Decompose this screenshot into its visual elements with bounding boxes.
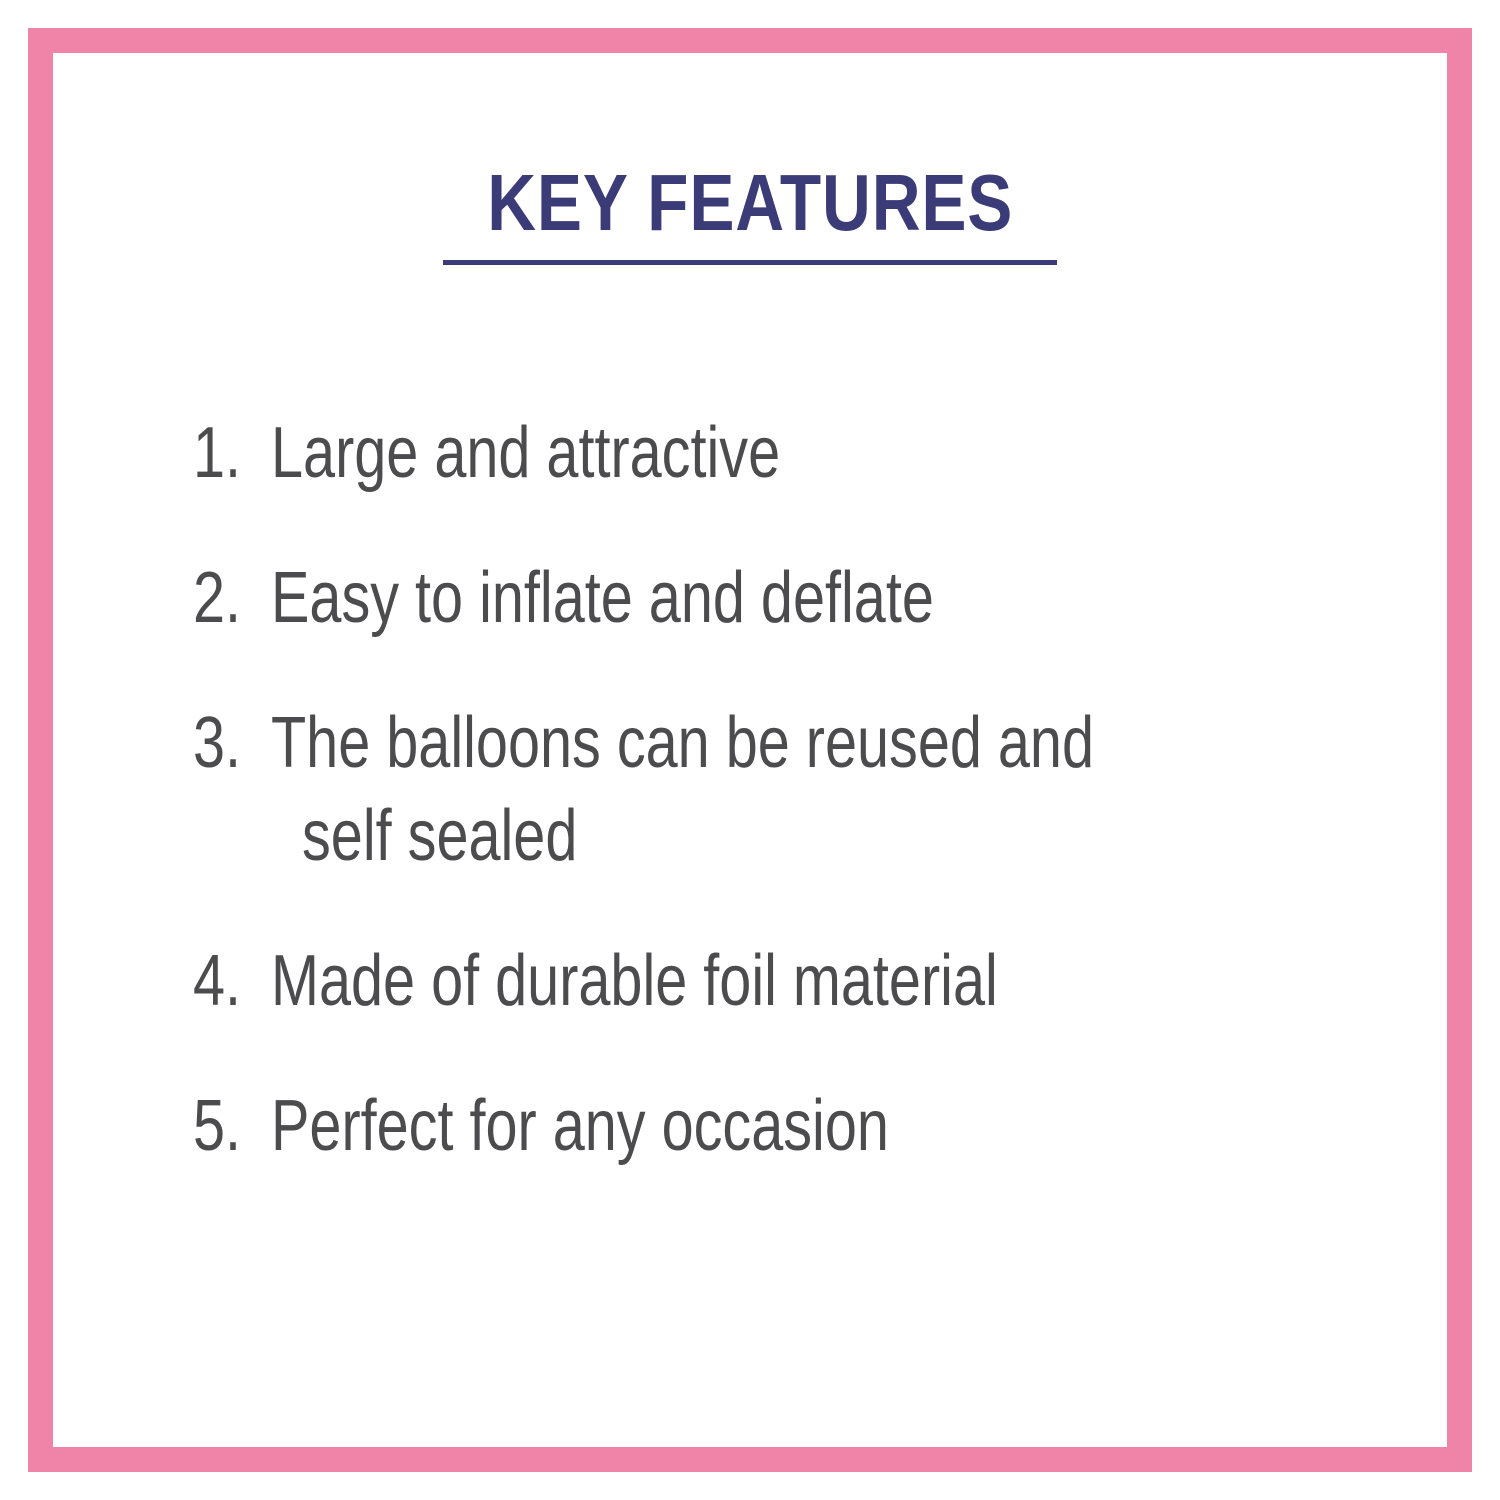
list-item-number: 5. <box>193 1078 255 1175</box>
list-item-number: 2. <box>193 550 255 647</box>
list-item-label-continued: self sealed <box>302 788 577 885</box>
list-item: 3. The balloons can be reused and self s… <box>193 695 1373 885</box>
list-item-label: Made of durable foil material <box>271 933 998 1030</box>
list-item-label: The balloons can be reused and <box>271 695 1094 792</box>
page-canvas: KEY FEATURES 1. Large and attractive 2. … <box>0 0 1500 1500</box>
page-title-wrapper: KEY FEATURES <box>439 160 1061 246</box>
list-item-label: Easy to inflate and deflate <box>271 550 934 647</box>
page-title-block: KEY FEATURES <box>0 160 1500 246</box>
list-item-wrapped-line: self sealed <box>193 788 1373 885</box>
list-item-number: 4. <box>193 933 255 1030</box>
list-item: 1. Large and attractive <box>193 405 1373 502</box>
list-item-label: Perfect for any occasion <box>271 1078 889 1175</box>
page-title-underline <box>443 260 1057 265</box>
list-item: 2. Easy to inflate and deflate <box>193 550 1373 647</box>
list-item-number: 3. <box>193 695 255 792</box>
list-item-number: 1. <box>193 405 255 502</box>
list-item: 4. Made of durable foil material <box>193 933 1373 1030</box>
list-item: 5. Perfect for any occasion <box>193 1078 1373 1175</box>
list-item-label: Large and attractive <box>271 405 780 502</box>
page-title: KEY FEATURES <box>487 160 1013 246</box>
list-item-first-line: 3. The balloons can be reused and <box>193 695 1373 792</box>
feature-list: 1. Large and attractive 2. Easy to infla… <box>193 405 1373 1175</box>
